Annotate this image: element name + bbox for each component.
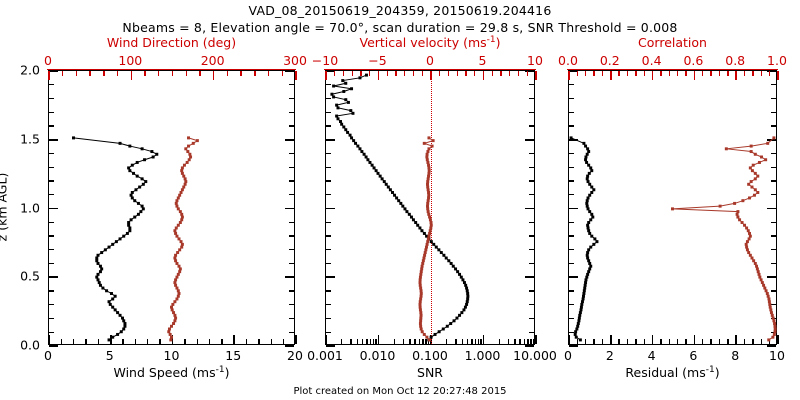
y-tick-label: 1.5: [20, 131, 40, 146]
x-bottom-tick-label: 4: [648, 348, 656, 363]
y-major-tick: [569, 345, 578, 347]
y-major-tick: [767, 345, 776, 347]
x-bottom-tick-label: 0.100: [412, 348, 448, 363]
x-bottom-tick-label: 20: [287, 348, 303, 363]
x-bottom-axis-title: Wind Speed (ms-1): [114, 365, 230, 380]
x-top-tick-label: 0.2: [600, 53, 620, 68]
plot-canvas: VAD_08_20150619_204359, 20150619.204416 …: [0, 0, 800, 400]
panel-3: [568, 70, 777, 345]
x-top-tick-label: 10: [527, 53, 543, 68]
series-snr: [330, 74, 469, 342]
x-bottom-major-tick: [295, 335, 297, 344]
page-title: VAD_08_20150619_204359, 20150619.204416: [0, 3, 800, 18]
scan-parameters-subtitle: Nbeams = 8, Elevation angle = 70.0°, sca…: [0, 20, 800, 35]
x-bottom-tick-label: 2: [606, 348, 614, 363]
y-major-tick: [49, 345, 58, 347]
x-bottom-tick-label: 1.000: [465, 348, 501, 363]
y-major-tick: [326, 345, 335, 347]
x-top-tick-label: 0: [426, 53, 434, 68]
x-bottom-major-tick: [777, 335, 779, 344]
plot-created-footer: Plot created on Mon Oct 12 20:27:48 2015: [0, 386, 800, 397]
x-top-tick-label: 200: [201, 53, 225, 68]
y-major-tick: [285, 345, 294, 347]
x-bottom-axis-title: Residual (ms-1): [625, 365, 719, 380]
series-correlation: [671, 136, 777, 341]
y-tick-label: 2.0: [20, 63, 40, 78]
panel-3-series-layer: [569, 71, 776, 344]
panel-2: [325, 70, 535, 345]
x-top-axis-title: Wind Direction (deg): [107, 35, 236, 50]
x-top-major-tick: [535, 71, 537, 80]
x-top-tick-label: 1.0: [767, 53, 787, 68]
series-wind-direction: [167, 136, 199, 341]
x-top-tick-label: 0: [44, 53, 52, 68]
y-tick-label: 1.0: [20, 200, 40, 215]
y-tick-label: 0.5: [20, 269, 40, 284]
x-bottom-tick-label: 6: [689, 348, 697, 363]
x-bottom-tick-label: 10: [769, 348, 785, 363]
x-bottom-tick-label: 15: [225, 348, 241, 363]
x-bottom-tick-label: 0.001: [307, 348, 343, 363]
y-axis-label: z (km AGL): [0, 173, 10, 242]
x-bottom-tick-label: 0: [564, 348, 572, 363]
x-top-axis-title: Correlation: [638, 35, 707, 50]
x-bottom-tick-label: 0: [44, 348, 52, 363]
x-top-tick-label: −10: [312, 53, 338, 68]
panel-2-series-layer: [326, 71, 534, 344]
panel-1: [48, 70, 295, 345]
x-bottom-tick-label: 10: [164, 348, 180, 363]
x-top-tick-label: 0.0: [558, 53, 578, 68]
y-tick-label: 0.0: [20, 338, 40, 353]
x-bottom-tick-label: 10.000: [513, 348, 557, 363]
x-top-major-tick: [777, 71, 779, 80]
x-top-tick-label: 0.8: [725, 53, 745, 68]
panel-1-series-layer: [49, 71, 294, 344]
series-residual: [570, 136, 599, 341]
x-top-tick-label: −5: [368, 53, 386, 68]
series-wind-speed: [72, 136, 158, 341]
x-top-tick-label: 0.6: [683, 53, 703, 68]
x-top-tick-label: 300: [283, 53, 307, 68]
x-top-tick-label: 100: [118, 53, 142, 68]
x-bottom-tick-label: 0.010: [360, 348, 396, 363]
x-bottom-tick-label: 5: [106, 348, 114, 363]
x-bottom-axis-title: SNR: [417, 365, 443, 380]
series-vertical-velocity: [419, 136, 435, 341]
x-bottom-tick-label: 8: [731, 348, 739, 363]
x-top-tick-label: 0.4: [642, 53, 662, 68]
y-major-tick: [525, 345, 534, 347]
x-top-tick-label: 5: [479, 53, 487, 68]
x-bottom-major-tick: [535, 335, 537, 344]
x-top-major-tick: [295, 71, 297, 80]
x-top-axis-title: Vertical velocity (ms-1): [359, 35, 500, 50]
